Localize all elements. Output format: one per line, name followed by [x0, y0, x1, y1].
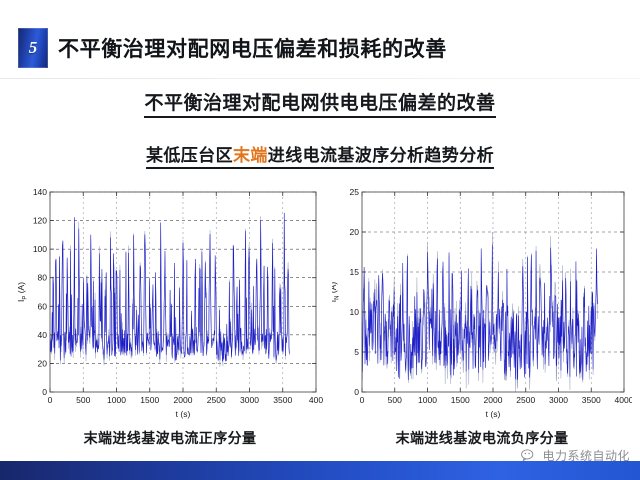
svg-text:1000: 1000: [107, 395, 126, 405]
svg-text:500: 500: [388, 395, 402, 405]
chart-negative-sequence: 0510152025050010001500200025003000350040…: [332, 182, 632, 420]
svg-text:1500: 1500: [140, 395, 159, 405]
svg-text:500: 500: [76, 395, 90, 405]
svg-text:IN (A): IN (A): [332, 282, 341, 303]
svg-text:5: 5: [354, 347, 359, 357]
subtitle-primary-row: 不平衡治理对配电网供电电压偏差的改善: [0, 88, 640, 118]
svg-text:IP (A): IP (A): [16, 282, 29, 302]
chart-right-caption: 末端进线基波电流负序分量: [332, 428, 632, 448]
svg-text:0: 0: [360, 395, 365, 405]
svg-text:140: 140: [33, 187, 47, 197]
svg-text:20: 20: [38, 358, 48, 368]
slide-root: 5 不平衡治理对配网电压偏差和损耗的改善 不平衡治理对配电网供电电压偏差的改善 …: [0, 0, 640, 480]
subtitle-secondary-suffix: 进线电流基波序分析趋势分析: [268, 146, 494, 165]
chart-left-canvas: 0204060801001201400500100015002000250030…: [16, 182, 324, 420]
svg-text:10: 10: [350, 307, 360, 317]
svg-text:3000: 3000: [549, 395, 568, 405]
svg-text:120: 120: [33, 216, 47, 226]
chart-left-caption: 末端进线基波电流正序分量: [16, 428, 324, 448]
section-number-badge: 5: [18, 28, 48, 68]
svg-text:4000: 4000: [615, 395, 632, 405]
svg-text:1000: 1000: [418, 395, 437, 405]
svg-text:0: 0: [48, 395, 53, 405]
section-number-label: 5: [18, 28, 48, 68]
svg-text:15: 15: [350, 267, 360, 277]
subtitle-secondary-row: 某低压台区末端进线电流基波序分析趋势分析: [0, 141, 640, 169]
svg-text:400: 400: [309, 395, 323, 405]
svg-text:100: 100: [33, 244, 47, 254]
svg-text:80: 80: [38, 273, 48, 283]
svg-text:2000: 2000: [484, 395, 503, 405]
svg-text:2500: 2500: [516, 395, 535, 405]
svg-text:0: 0: [42, 387, 47, 397]
svg-text:3500: 3500: [273, 395, 292, 405]
svg-text:40: 40: [38, 330, 48, 340]
subtitle-secondary-prefix: 某低压台区: [146, 146, 233, 165]
svg-text:2000: 2000: [174, 395, 193, 405]
svg-text:t (s): t (s): [486, 409, 501, 419]
svg-text:3000: 3000: [240, 395, 259, 405]
footer-bar: [0, 461, 640, 480]
svg-text:1500: 1500: [451, 395, 470, 405]
svg-text:t (s): t (s): [176, 409, 191, 419]
slide-header: 5 不平衡治理对配网电压偏差和损耗的改善: [0, 0, 640, 80]
svg-text:25: 25: [350, 187, 360, 197]
svg-text:3500: 3500: [582, 395, 601, 405]
svg-text:60: 60: [38, 301, 48, 311]
subtitle-primary: 不平衡治理对配电网供电电压偏差的改善: [144, 88, 495, 118]
svg-text:0: 0: [354, 387, 359, 397]
header-divider: [0, 78, 640, 79]
chart-right-canvas: 0510152025050010001500200025003000350040…: [332, 182, 632, 420]
subtitle-secondary-highlight: 末端: [233, 146, 268, 165]
svg-text:20: 20: [350, 227, 360, 237]
chart-positive-sequence: 0204060801001201400500100015002000250030…: [16, 182, 324, 420]
page-title: 不平衡治理对配网电压偏差和损耗的改善: [58, 33, 447, 63]
svg-text:2500: 2500: [207, 395, 226, 405]
subtitle-secondary: 某低压台区末端进线电流基波序分析趋势分析: [146, 141, 494, 169]
